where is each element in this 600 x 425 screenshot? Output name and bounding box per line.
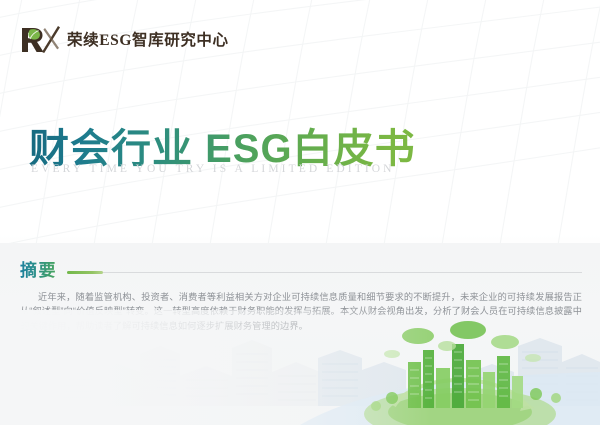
org-name: 荣续ESG智库研究中心 bbox=[67, 28, 229, 50]
abstract-heading: 摘要 bbox=[20, 256, 57, 281]
page-subtitle: EVERY TIME YOU TRY IS A LIMITED EDITION bbox=[31, 163, 395, 175]
brand-logo: 荣续ESG智库研究中心 bbox=[18, 24, 229, 54]
report-cover-page: 荣续ESG智库研究中心 财会行业 ESG白皮书 EVERY TIME YOU T… bbox=[0, 0, 600, 425]
divider-green-accent bbox=[67, 271, 103, 274]
r-leaf-logo-icon bbox=[18, 24, 60, 54]
abstract-divider bbox=[67, 271, 582, 274]
abstract-heading-row: 摘要 bbox=[20, 256, 582, 281]
divider-gray-line bbox=[67, 272, 582, 274]
abstract-text: 近年来，随着监管机构、投资者、消费者等利益相关方对企业可持续信息质量和细节要求的… bbox=[20, 290, 582, 333]
